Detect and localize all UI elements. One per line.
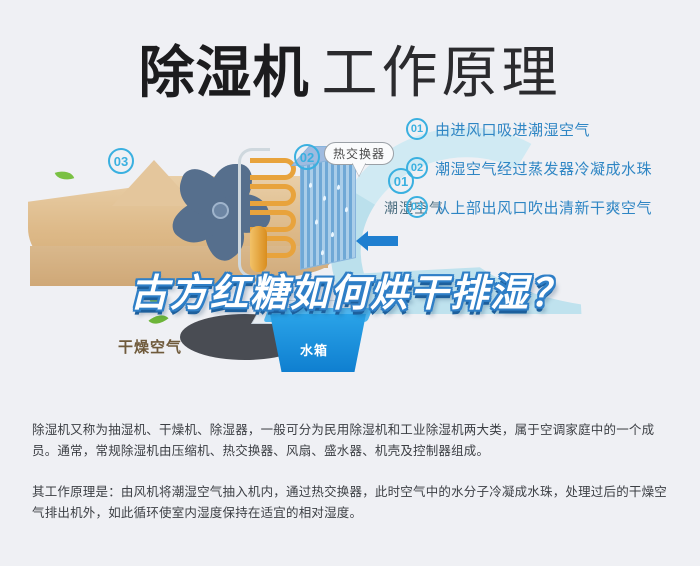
air-intake-arrow-icon (368, 236, 398, 246)
page-title: 除湿机工作原理 (0, 28, 700, 109)
step-text: 从上部出风口吹出清新干爽空气 (435, 197, 652, 218)
badge-heat-exchanger: 02 (294, 144, 320, 170)
list-item: 01 由进风口吸进潮湿空气 (406, 118, 696, 140)
steps-list: 01 由进风口吸进潮湿空气 02 潮湿空气经过蒸发器冷凝成水珠 03 从上部出风… (406, 118, 696, 235)
paragraph: 除湿机又称为抽湿机、干燥机、除湿器，一般可分为民用除湿机和工业除湿机两大类，属于… (32, 420, 672, 462)
step-number: 03 (406, 196, 428, 218)
badge-dry-air: 03 (108, 148, 134, 174)
list-item: 03 从上部出风口吹出清新干爽空气 (406, 196, 696, 218)
step-number: 01 (406, 118, 428, 140)
paragraph: 其工作原理是：由风机将潮湿空气抽入机内，通过热交换器，此时空气中的水分子冷凝成水… (32, 482, 672, 524)
step-text: 潮湿空气经过蒸发器冷凝成水珠 (435, 158, 652, 179)
title-secondary: 工作原理 (322, 41, 562, 104)
step-number: 02 (406, 157, 428, 179)
evaporator-fins-icon (300, 154, 356, 270)
overlay-headline: 古方红糖如何烘干排湿？ (0, 262, 700, 317)
step-text: 由进风口吸进潮湿空气 (435, 119, 590, 140)
callout-tail-icon (352, 162, 366, 176)
label-water-tank: 水箱 (300, 340, 328, 359)
leaf-icon (55, 168, 75, 184)
stream-mask-bottom (330, 314, 630, 404)
poster-page: 除湿机工作原理 03 干燥空气 (0, 0, 700, 566)
label-dry-air: 干燥空气 (118, 336, 182, 357)
article-body: 除湿机又称为抽湿机、干燥机、除湿器，一般可分为民用除湿机和工业除湿机两大类，属于… (32, 420, 672, 524)
title-primary: 除湿机 (139, 41, 310, 104)
list-item: 02 潮湿空气经过蒸发器冷凝成水珠 (406, 157, 696, 179)
